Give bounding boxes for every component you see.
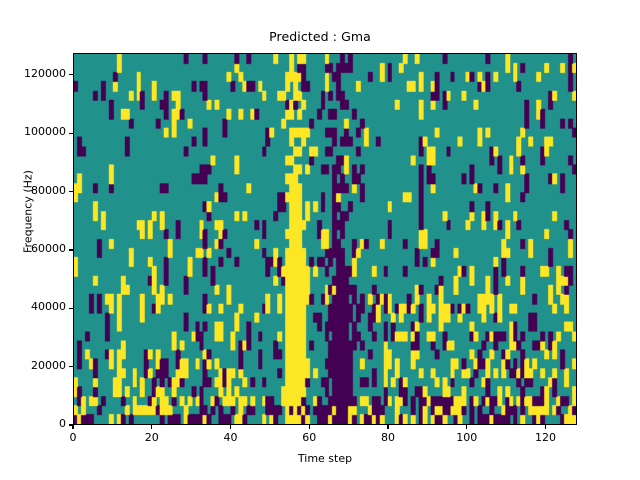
x-tick-mark — [72, 425, 73, 429]
x-tick-label: 40 — [211, 431, 251, 444]
x-tick-mark — [466, 425, 467, 429]
y-tick-mark — [69, 249, 73, 250]
x-tick-label: 0 — [53, 431, 93, 444]
y-tick-mark — [69, 366, 73, 367]
heatmap-axes[interactable] — [73, 53, 577, 425]
y-tick-label: 0 — [59, 417, 66, 430]
y-tick-label: 20000 — [31, 359, 66, 372]
y-tick-mark — [69, 191, 73, 192]
x-tick-mark — [151, 425, 152, 429]
y-tick-mark — [69, 308, 73, 309]
y-tick-label: 40000 — [31, 300, 66, 313]
y-tick-label: 120000 — [24, 67, 66, 80]
chart-title: Predicted : Gma — [0, 29, 640, 44]
x-tick-mark — [387, 425, 388, 429]
x-tick-label: 60 — [289, 431, 329, 444]
x-tick-label: 20 — [132, 431, 172, 444]
x-tick-mark — [545, 425, 546, 429]
y-axis-label: Frequency (Hz) — [22, 132, 35, 292]
x-tick-label: 80 — [368, 431, 408, 444]
x-tick-mark — [230, 425, 231, 429]
heatmap-canvas[interactable] — [74, 54, 576, 424]
x-tick-label: 120 — [526, 431, 566, 444]
matplotlib-figure: Predicted : Gma 020000400006000080000100… — [0, 0, 640, 480]
y-tick-mark — [69, 133, 73, 134]
x-tick-mark — [309, 425, 310, 429]
x-axis-label: Time step — [73, 452, 577, 465]
y-tick-mark — [69, 74, 73, 75]
y-tick-label: 60000 — [31, 242, 66, 255]
y-tick-label: 80000 — [31, 184, 66, 197]
x-tick-label: 100 — [447, 431, 487, 444]
